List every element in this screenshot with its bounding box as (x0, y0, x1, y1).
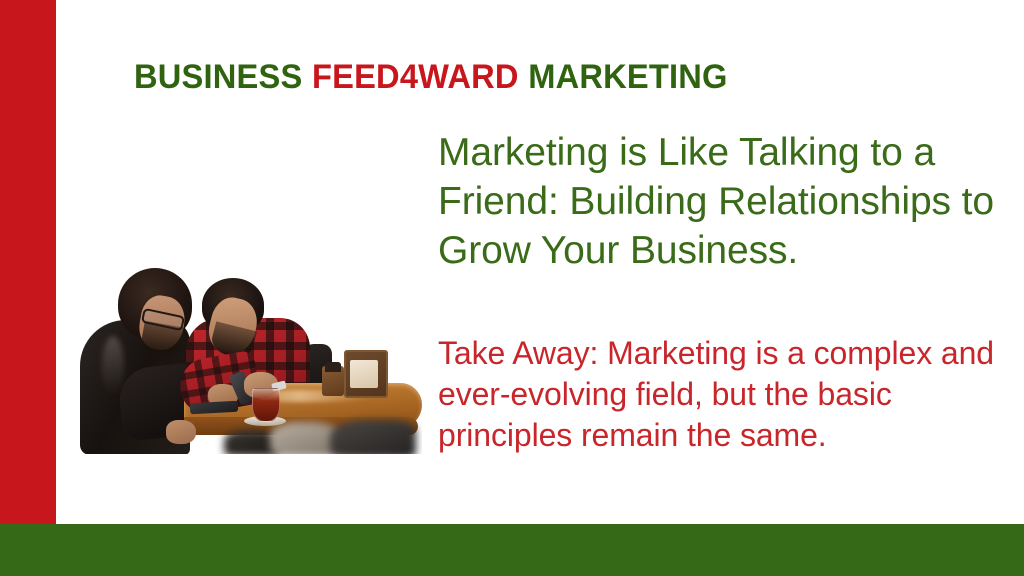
title-part-business: BUSINESS (134, 58, 302, 96)
condiment-caddy-cap (325, 362, 341, 372)
leather-sheen (102, 336, 124, 396)
takeaway-text: Take Away: Marketing is a complex and ev… (438, 333, 1018, 456)
foreground-blur-right (330, 420, 416, 454)
photo-scene (74, 262, 422, 454)
cafe-photo (74, 262, 422, 454)
title-part-feed4ward: FEED4WARD (312, 58, 519, 96)
tea-glass (252, 388, 280, 422)
left-accent-bar (0, 0, 56, 524)
bottom-accent-bar (0, 524, 1024, 576)
headline-text: Marketing is Like Talking to a Friend: B… (438, 128, 1018, 275)
slide-title: BUSINESSFEED4WARDMARKETING (134, 57, 728, 97)
slide-canvas: BUSINESSFEED4WARDMARKETING Marketing is … (0, 0, 1024, 576)
napkin-paper (350, 360, 378, 388)
title-part-marketing: MARKETING (528, 58, 727, 96)
man-leather-jacket-hand (166, 420, 196, 444)
